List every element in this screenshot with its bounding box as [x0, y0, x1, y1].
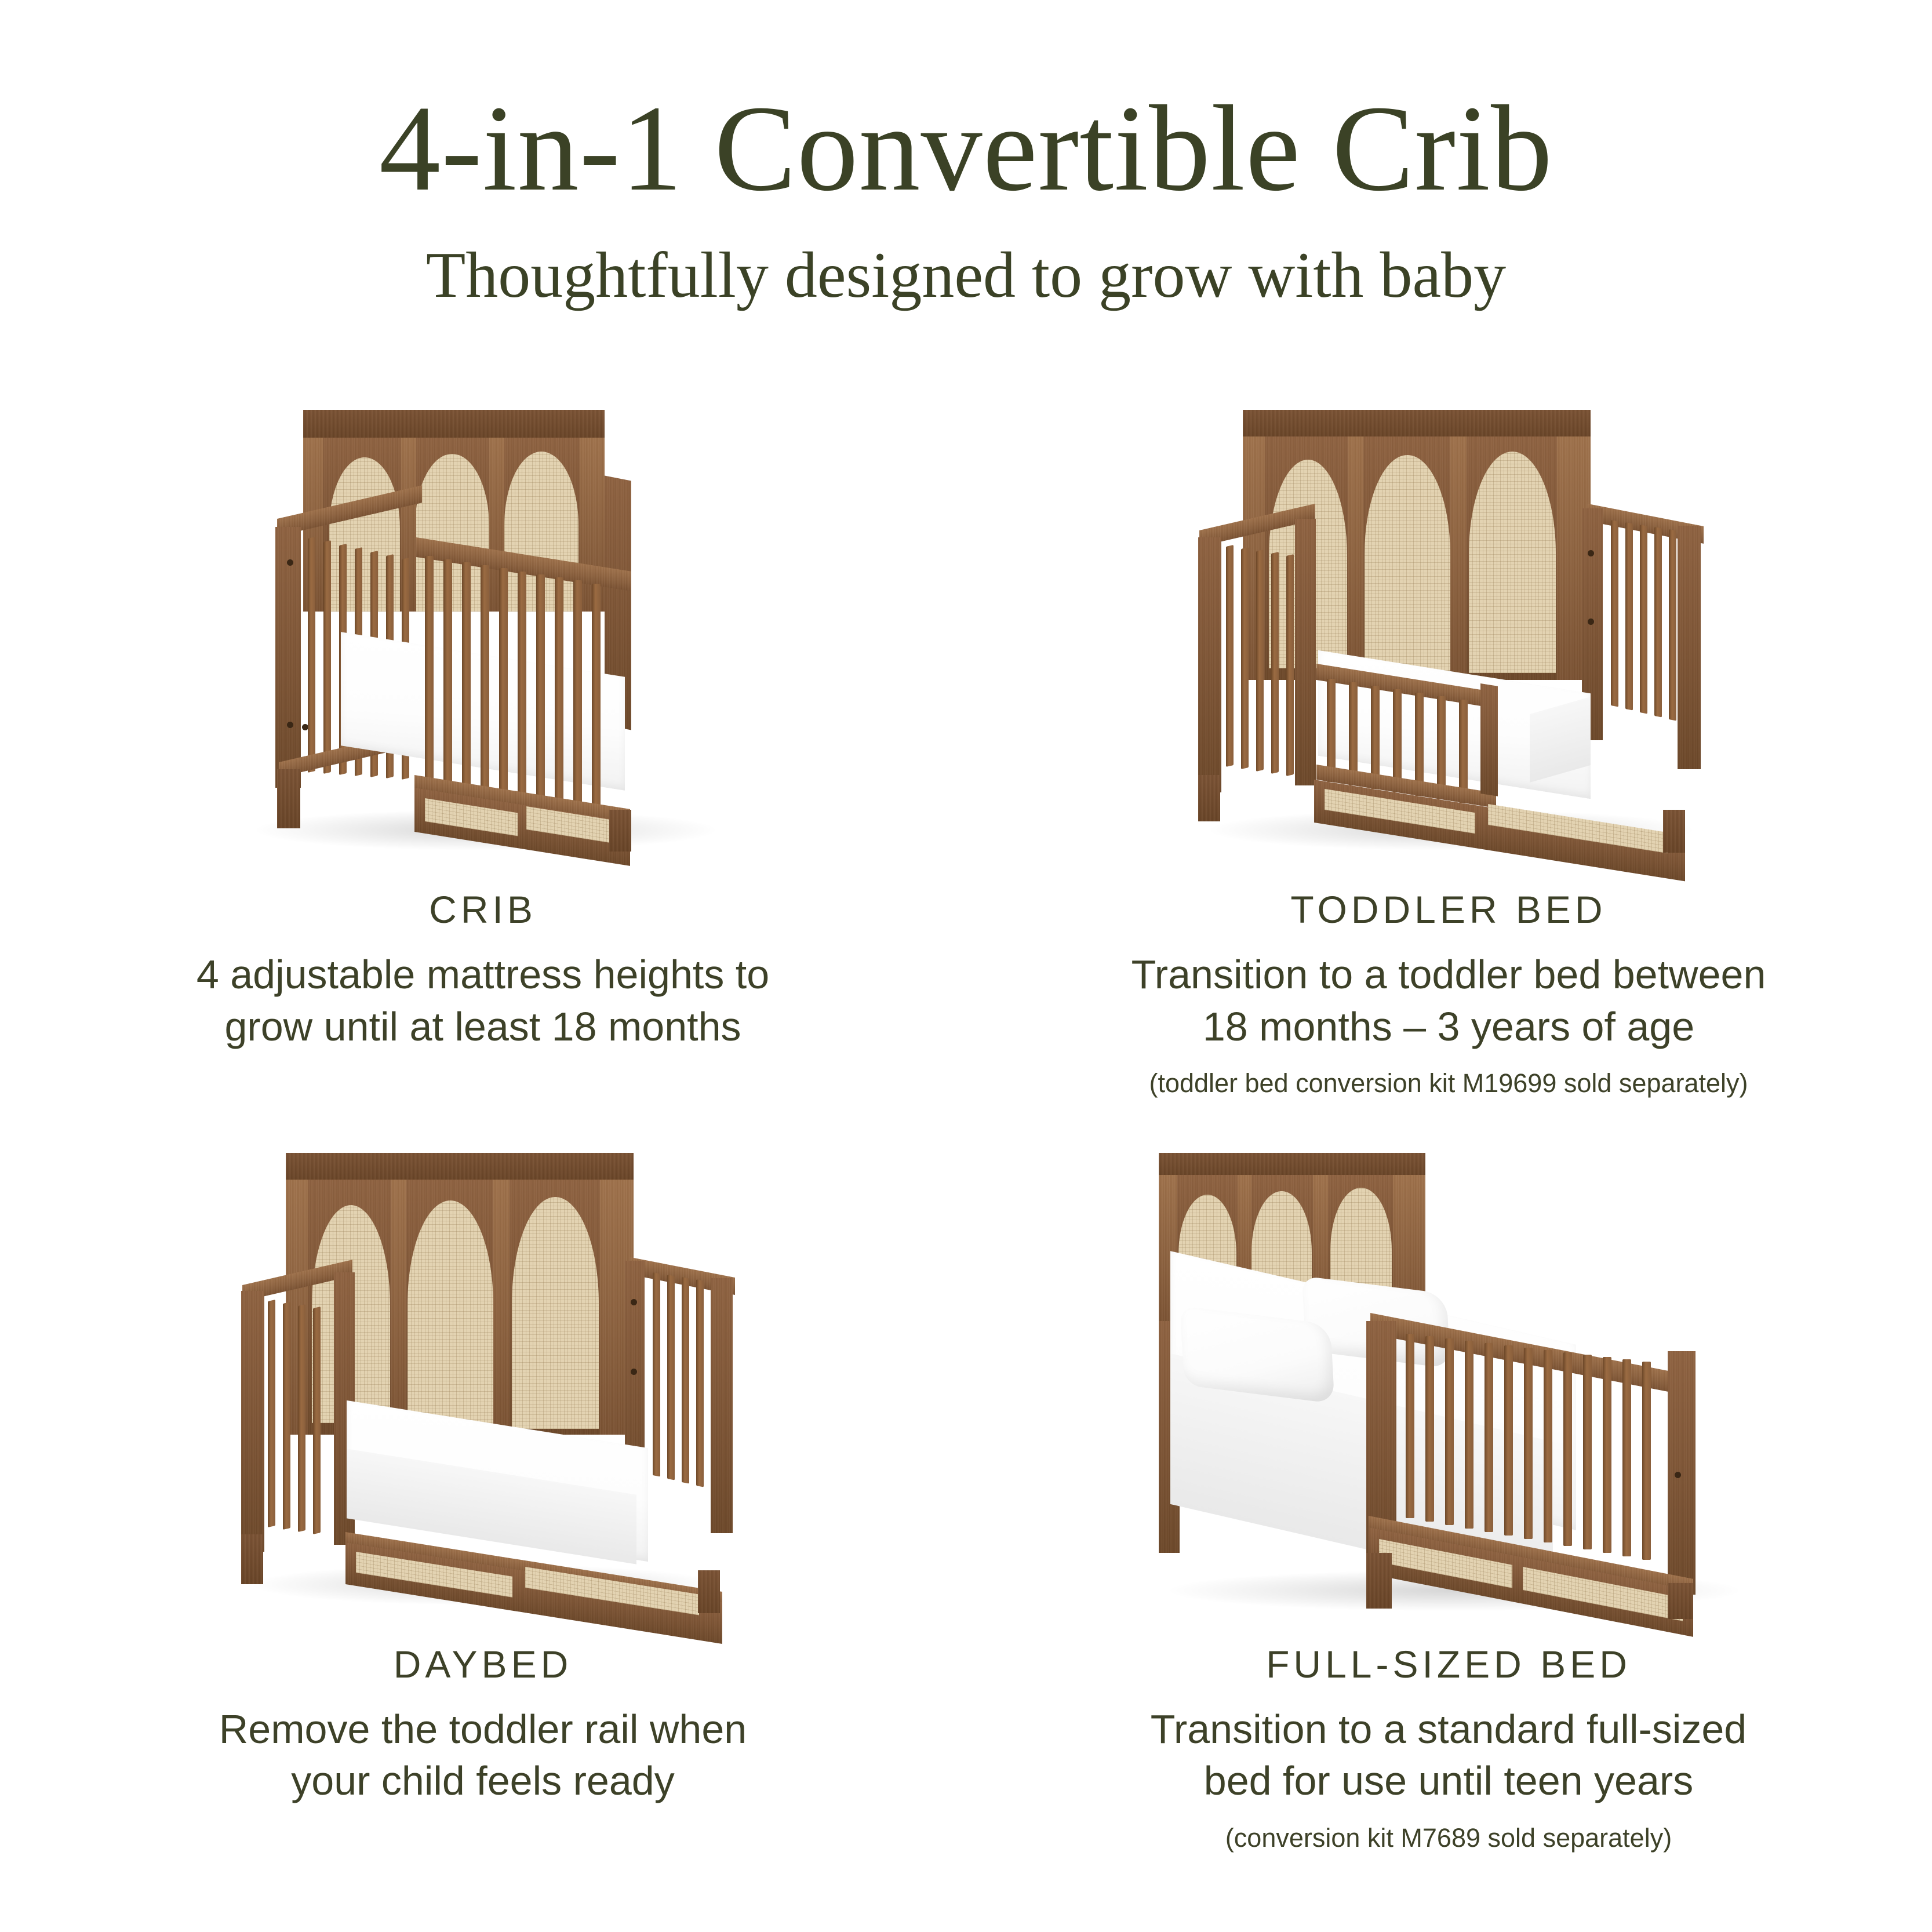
toddler-bed-caption-title: TODDLER BED: [1131, 887, 1766, 932]
crib-caption-title: CRIB: [197, 887, 769, 932]
crib-front-slat-5: [499, 568, 508, 810]
full-bed-foot-slat-1: [1406, 1334, 1414, 1518]
daybed-caption-title: DAYBED: [219, 1642, 747, 1686]
toddler-left-post-outer: [1198, 537, 1221, 792]
full-sized-bed-caption-title: FULL-SIZED BED: [1151, 1642, 1747, 1686]
full-bed-foot-slat-10: [1583, 1355, 1592, 1549]
daybed-left-slat-1: [268, 1300, 275, 1527]
daybed-headboard-top-rail: [286, 1153, 634, 1182]
toddler-right-slat-1: [1611, 520, 1618, 707]
crib-front-left-post: [275, 527, 301, 788]
toddler-bed-scene: [1188, 404, 1709, 868]
full-sized-bed-caption-body: Transition to a standard full-sized bed …: [1151, 1704, 1747, 1807]
daybed-right-post-outer: [711, 1278, 733, 1533]
full-bed-foot-slat-7: [1524, 1348, 1533, 1539]
crib-front-slat-9: [573, 580, 582, 823]
toddler-right-post-outer: [1678, 526, 1701, 769]
full-bed-foot-slat-13: [1642, 1362, 1651, 1560]
daybed-leg-left: [241, 1534, 263, 1584]
toddler-left-slat-4: [1271, 552, 1279, 774]
full-sized-bed-illustration: [966, 1101, 1931, 1622]
full-bed-foot-slat-5: [1485, 1343, 1493, 1532]
crib-caption-body: 4 adjustable mattress heights to grow un…: [197, 949, 769, 1053]
conversion-modes-grid: CRIB 4 adjustable mattress heights to gr…: [0, 369, 1932, 1855]
mode-card-full-sized-bed: FULL-SIZED BED Transition to a standard …: [966, 1101, 1931, 1855]
daybed-left-post-outer: [241, 1291, 264, 1552]
page-title: 4-in-1 Convertible Crib: [0, 87, 1932, 210]
page-subtitle: Thoughtfully designed to grow with baby: [0, 240, 1932, 311]
crib-front-slat-7: [536, 574, 545, 817]
crib-front-slat-2: [443, 559, 452, 802]
toddler-right-slat-4: [1654, 527, 1662, 718]
full-sized-bed-scene: [1136, 1147, 1762, 1622]
crib-side-slat-2: [323, 540, 331, 774]
full-bed-foot-slat-4: [1465, 1341, 1473, 1529]
daybed-right-slat-3: [682, 1277, 689, 1484]
full-bed-leg-front-left: [1366, 1553, 1392, 1609]
toddler-right-slat-3: [1640, 525, 1647, 714]
daybed-right-slat-1: [653, 1272, 660, 1477]
daybed-arch-panel-3: [512, 1197, 599, 1429]
toddler-left-slat-2: [1241, 547, 1249, 769]
toddler-left-slat-1: [1226, 545, 1234, 767]
daybed-right-slat-2: [667, 1275, 675, 1480]
crib-illustration: [0, 369, 966, 868]
crib-front-slat-1: [425, 556, 434, 798]
toddler-bed-caption-body: Transition to a toddler bed between 18 m…: [1131, 949, 1766, 1053]
page-header: 4-in-1 Convertible Crib Thoughtfully des…: [0, 0, 1932, 311]
daybed-caption-body: Remove the toddler rail when your child …: [219, 1704, 747, 1807]
toddler-leg-left: [1198, 775, 1220, 821]
toddler-headboard-top-rail: [1243, 410, 1591, 439]
full-bed-footboard-post-right: [1668, 1351, 1695, 1595]
full-bed-foot-slat-8: [1544, 1350, 1552, 1542]
daybed-scene: [231, 1147, 735, 1622]
daybed-arch-panel-2: [407, 1200, 493, 1427]
crib-leg-front-right: [609, 810, 631, 852]
full-bed-leg-front-right: [1668, 1583, 1693, 1619]
crib-headboard-top-rail: [303, 410, 605, 440]
toddler-left-post-inner: [1295, 519, 1316, 785]
crib-front-slat-4: [481, 565, 489, 807]
full-sized-bed-caption-fine-print: (conversion kit M7689 sold separately): [1151, 1821, 1747, 1855]
mode-card-toddler-bed: TODDLER BED Transition to a toddler bed …: [966, 369, 1931, 1101]
daybed-right-slat-4: [696, 1279, 704, 1487]
daybed-caption: DAYBED Remove the toddler rail when your…: [173, 1622, 793, 1807]
toddler-headboard-stile-3: [1450, 436, 1467, 680]
full-bed-headboard-top-rail: [1159, 1153, 1425, 1177]
full-sized-bed-caption: FULL-SIZED BED Transition to a standard …: [1104, 1622, 1793, 1855]
toddler-right-slat-5: [1669, 529, 1676, 721]
crib-front-slat-6: [518, 572, 526, 814]
toddler-bed-caption: TODDLER BED Transition to a toddler bed …: [1085, 868, 1813, 1101]
crib-scene: [234, 404, 732, 868]
crib-caption: CRIB 4 adjustable mattress heights to gr…: [150, 868, 816, 1053]
full-bed-foot-slat-9: [1563, 1352, 1572, 1546]
full-bed-foot-slat-12: [1622, 1359, 1631, 1556]
crib-front-slat-8: [555, 577, 563, 820]
crib-side-slat-1: [308, 537, 315, 773]
toddler-arch-panel-2: [1365, 455, 1450, 671]
crib-front-slat-10: [592, 584, 601, 826]
full-bed-foot-slat-11: [1603, 1357, 1611, 1553]
daybed-left-slat-4: [313, 1307, 321, 1534]
daybed-leg-right: [698, 1570, 720, 1613]
daybed-pin-b: [631, 1369, 637, 1375]
crib-leg-front-left: [277, 769, 300, 828]
daybed-headboard-stile-2: [391, 1180, 406, 1435]
full-bed-pin: [1675, 1472, 1681, 1478]
toddler-left-slat-5: [1286, 554, 1294, 776]
full-bed-foot-slat-3: [1445, 1338, 1454, 1525]
toddler-headboard-stile-2: [1348, 436, 1363, 680]
toddler-guard-end-post: [1480, 683, 1498, 796]
full-bed-foot-slat-2: [1425, 1336, 1434, 1522]
daybed-pin-a: [631, 1299, 637, 1305]
full-bed-foot-slat-6: [1504, 1345, 1513, 1536]
crib-front-slat-3: [462, 562, 471, 805]
daybed-left-slat-2: [283, 1302, 290, 1530]
daybed-headboard-stile-3: [493, 1180, 510, 1435]
toddler-left-slat-3: [1256, 550, 1264, 772]
daybed-left-slat-3: [298, 1304, 305, 1532]
toddler-bed-illustration: [966, 369, 1931, 868]
toddler-bed-caption-fine-print: (toddler bed conversion kit M19699 sold …: [1131, 1067, 1766, 1101]
daybed-illustration: [0, 1101, 966, 1622]
toddler-arch-panel-3: [1469, 452, 1556, 673]
toddler-leg-right: [1663, 810, 1685, 853]
toddler-right-slat-2: [1625, 522, 1633, 711]
mode-card-crib: CRIB 4 adjustable mattress heights to gr…: [0, 369, 966, 1101]
mode-card-daybed: DAYBED Remove the toddler rail when your…: [0, 1101, 966, 1855]
